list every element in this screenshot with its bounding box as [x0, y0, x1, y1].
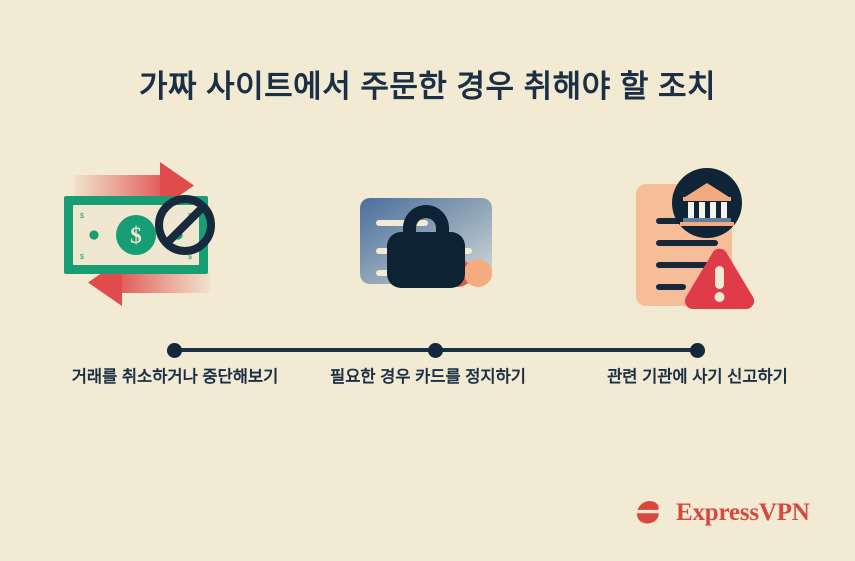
timeline-dot-1 — [167, 343, 182, 358]
svg-text:$: $ — [130, 223, 142, 248]
timeline-dot-2 — [428, 343, 443, 358]
money-transfer-blocked-icon: $ $ $ $ $ — [56, 160, 296, 320]
report-fraud-authority-icon — [576, 160, 816, 320]
expressvpn-logo: ExpressVPN — [633, 492, 793, 532]
step-2-icon — [308, 160, 548, 320]
step-1-caption: 거래를 취소하거나 중단해보기 — [40, 363, 310, 387]
page-title: 가짜 사이트에서 주문한 경우 취해야 할 조치 — [0, 68, 855, 105]
svg-text:$: $ — [80, 213, 84, 220]
timeline-dot-3 — [690, 343, 705, 358]
infographic-canvas: 가짜 사이트에서 주문한 경우 취해야 할 조치 — [0, 0, 855, 561]
timeline-track — [174, 348, 698, 352]
svg-text:$: $ — [188, 254, 192, 261]
step-3-caption: 관련 기관에 사기 신고하기 — [570, 363, 825, 387]
step-2-caption: 필요한 경우 카드를 정지하기 — [303, 363, 553, 387]
credit-card-lock-icon — [308, 160, 548, 320]
step-1-icon: $ $ $ $ $ — [56, 160, 296, 320]
svg-text:$: $ — [80, 254, 84, 261]
step-3-icon — [576, 160, 816, 320]
expressvpn-logo-mark-icon — [633, 495, 667, 529]
bank-badge-icon — [672, 168, 742, 238]
banknote-icon: $ $ $ $ $ — [64, 196, 208, 274]
expressvpn-wordmark: ExpressVPN — [676, 500, 810, 525]
icons-row: $ $ $ $ $ — [0, 160, 855, 320]
captions-row: 거래를 취소하거나 중단해보기 필요한 경우 카드를 정지하기 관련 기관에 사… — [0, 363, 855, 393]
